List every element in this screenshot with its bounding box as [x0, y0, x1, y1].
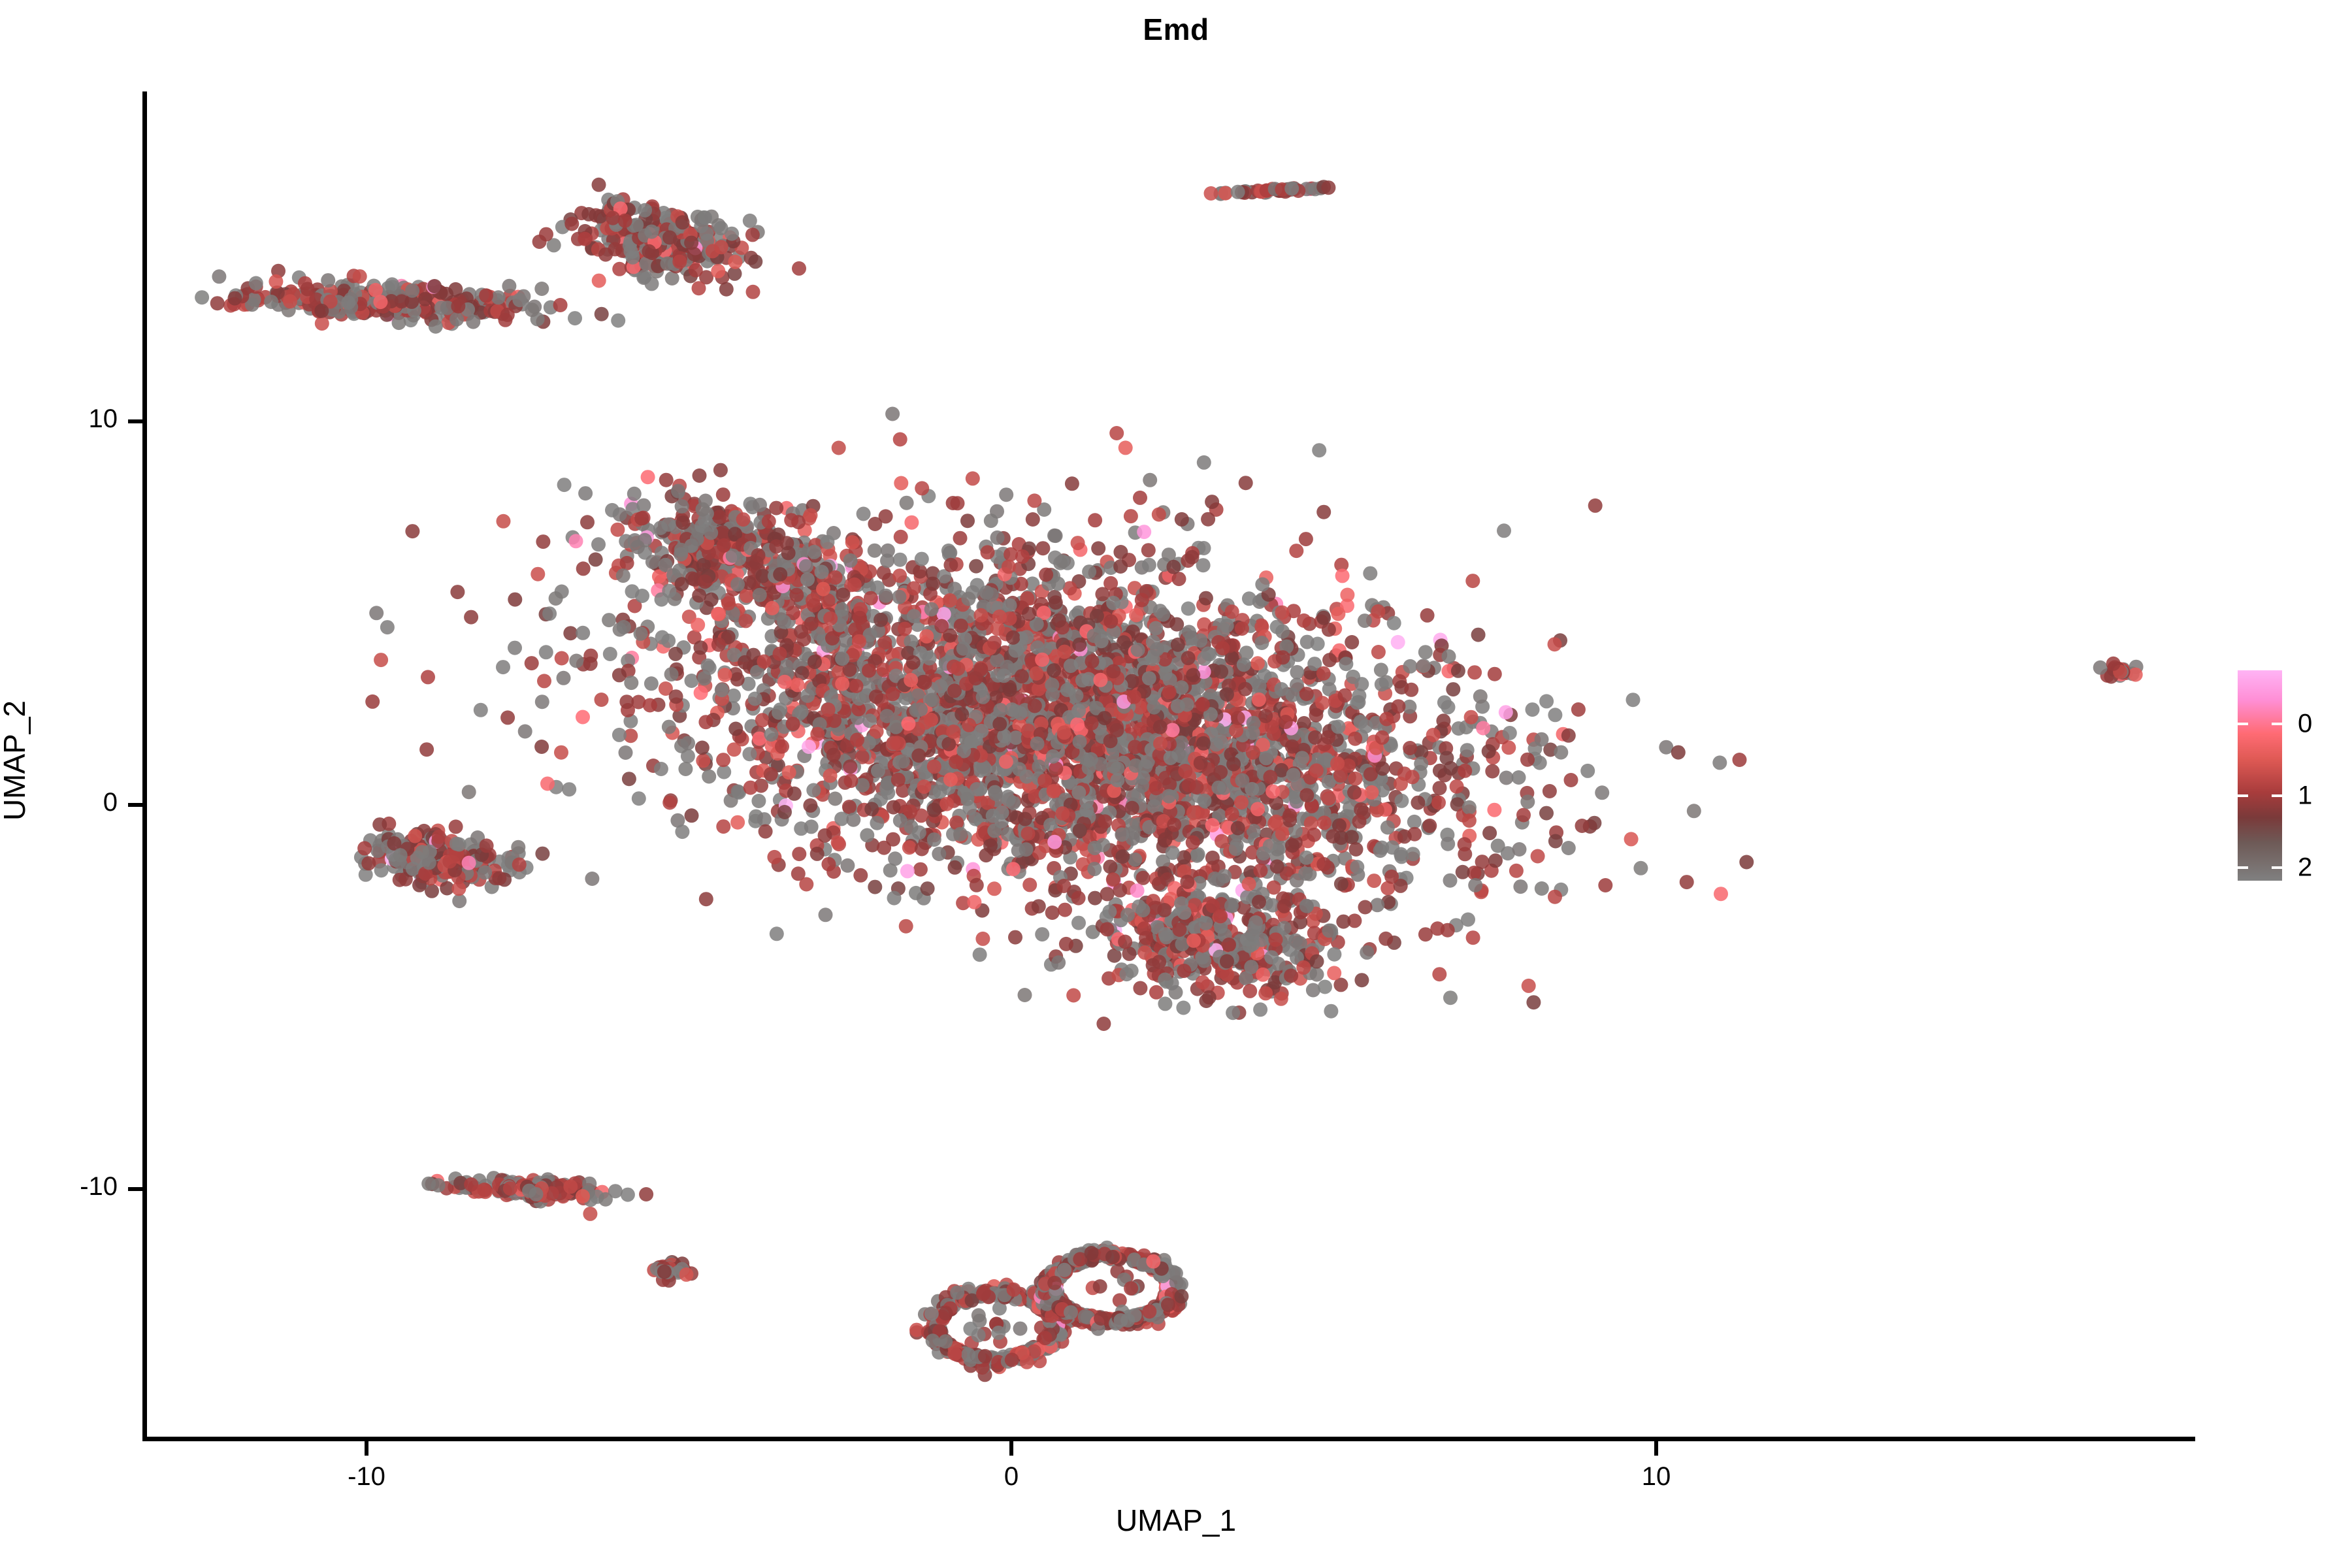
- colorbar-tick-label: 1: [2298, 781, 2312, 811]
- colorbar-tick-mark: [2238, 866, 2282, 869]
- x-tick-label: 10: [1591, 1462, 1722, 1492]
- colorbar-tick-label: 0: [2298, 710, 2312, 739]
- colorbar-tick-label: 2: [2298, 853, 2312, 883]
- colorbar-gradient: [2238, 670, 2282, 881]
- x-axis-line: [142, 1437, 2195, 1441]
- y-tick-label: -10: [0, 1172, 118, 1201]
- x-tick-mark: [1654, 1441, 1658, 1456]
- y-axis-line: [142, 91, 147, 1441]
- umap-feature-plot: Emd -10010 -10010 UMAP_1 UMAP_2 210: [0, 0, 2352, 1568]
- y-tick-mark: [128, 803, 142, 807]
- y-tick-mark: [128, 419, 142, 423]
- y-tick-label: 10: [0, 404, 118, 434]
- x-tick-label: -10: [301, 1462, 432, 1492]
- x-tick-mark: [365, 1441, 368, 1456]
- color-legend: 210: [2238, 670, 2342, 883]
- colorbar-tick-mark: [2238, 723, 2282, 725]
- scatter-points-layer: [144, 91, 2195, 1439]
- y-tick-mark: [128, 1187, 142, 1191]
- colorbar-tick-mark: [2238, 794, 2282, 797]
- page-title: Emd: [0, 12, 2352, 47]
- x-axis-title: UMAP_1: [0, 1503, 2352, 1538]
- x-tick-mark: [1009, 1441, 1013, 1456]
- plot-panel: [144, 91, 2195, 1439]
- scatter-svg: [144, 91, 2195, 1439]
- x-tick-label: 0: [946, 1462, 1077, 1492]
- y-axis-title: UMAP_2: [0, 656, 32, 865]
